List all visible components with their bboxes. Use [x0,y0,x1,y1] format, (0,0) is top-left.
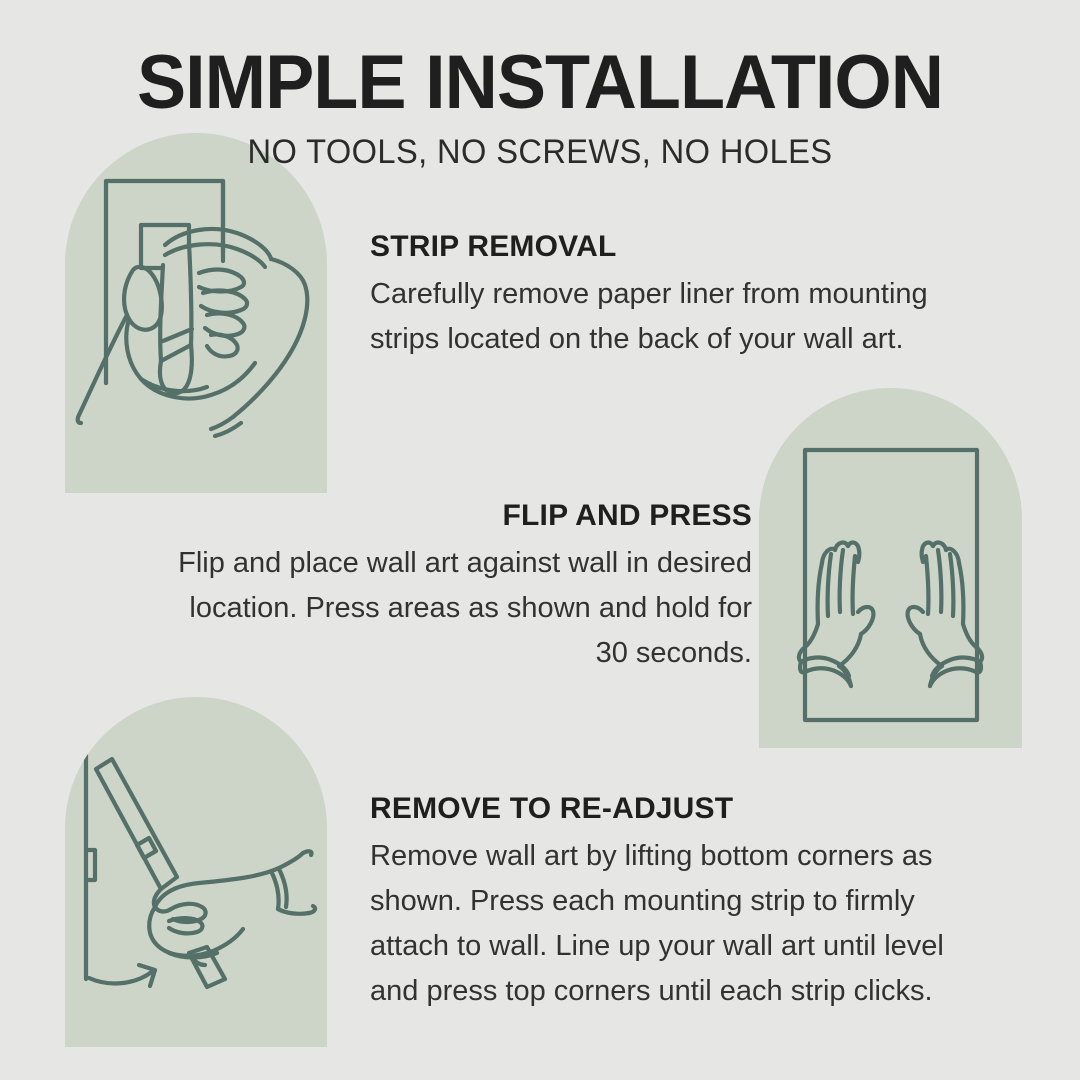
step-2-heading: FLIP AND PRESS [110,497,752,535]
step-strip-removal-text: STRIP REMOVAL Carefully remove paper lin… [370,228,994,362]
step-1-heading: STRIP REMOVAL [370,228,994,266]
step-3-heading: REMOVE TO RE-ADJUST [370,790,1010,828]
installation-infographic: SIMPLE INSTALLATION NO TOOLS, NO SCREWS,… [0,0,1080,1080]
step-2-body: Flip and place wall art against wall in … [110,535,752,676]
header: SIMPLE INSTALLATION NO TOOLS, NO SCREWS,… [0,0,1080,170]
step-3-body-line: Remove wall art by lifting bottom corner… [370,834,1010,879]
step-2-body-line: location. Press areas as shown and hold … [110,586,752,631]
page-title: SIMPLE INSTALLATION [16,0,1064,122]
page-subtitle: NO TOOLS, NO SCREWS, NO HOLES [22,122,1059,170]
step-3-body-line: shown. Press each mounting strip to firm… [370,879,1010,924]
step-3-body-line: attach to wall. Line up your wall art un… [370,924,1010,969]
step-1-body-line: Carefully remove paper liner from mounti… [370,272,994,317]
step-1-body: Carefully remove paper liner from mounti… [370,266,994,362]
two-hands-pressing-icon [759,388,1022,748]
step-2-body-line: 30 seconds. [110,631,752,676]
hand-lifting-frame-icon [65,697,327,1047]
step-1-body-line: strips located on the back of your wall … [370,317,994,362]
step-2-body-line: Flip and place wall art against wall in … [110,541,752,586]
hand-peeling-liner-icon [65,133,327,493]
illustration-panel-strip-removal [65,133,327,493]
illustration-panel-remove-to-re-adjust [65,697,327,1047]
illustration-panel-flip-and-press [759,388,1022,748]
step-remove-to-re-adjust-text: REMOVE TO RE-ADJUST Remove wall art by l… [370,790,1010,1014]
step-flip-and-press-text: FLIP AND PRESS Flip and place wall art a… [110,497,752,676]
step-3-body-line: and press top corners until each strip c… [370,969,1010,1014]
step-3-body: Remove wall art by lifting bottom corner… [370,828,1010,1014]
